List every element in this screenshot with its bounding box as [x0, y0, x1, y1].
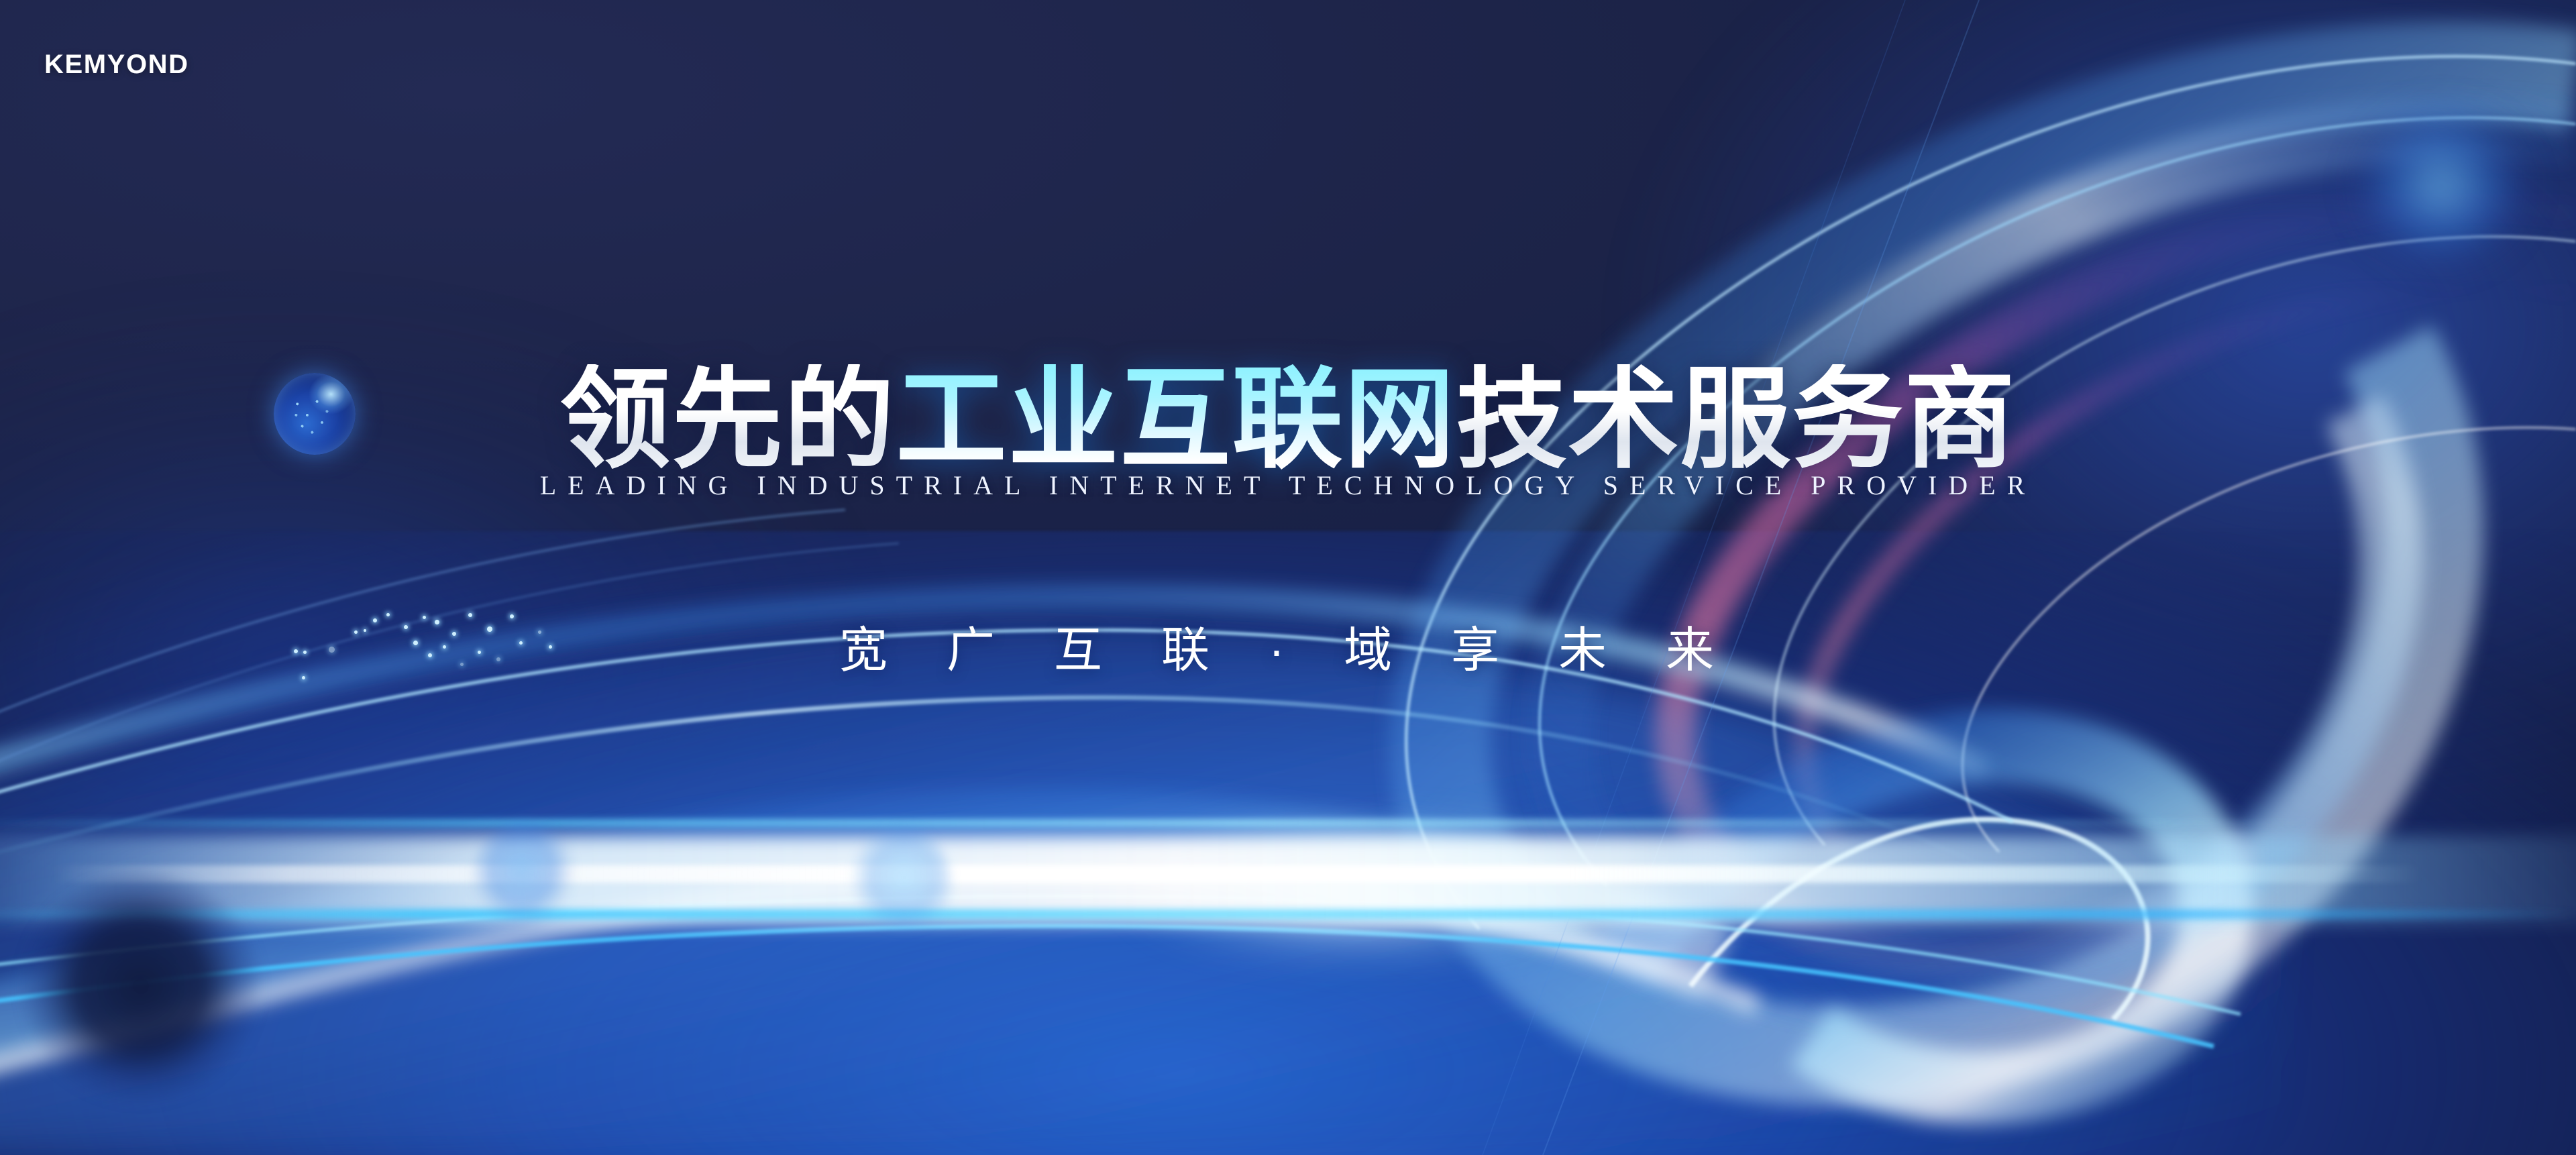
text-content-layer: KEMYOND 领先的工业互联网技术服务商 LEADING INDUSTRIAL…: [0, 0, 2576, 1155]
english-subtitle: LEADING INDUSTRIAL INTERNET TECHNOLOGY S…: [0, 470, 2576, 501]
headline-part-1: 领先的: [560, 364, 896, 475]
slogan-tagline: 宽 广 互 联 · 域 享 未 来: [0, 610, 2576, 681]
headline-part-3: 技术服务商: [1456, 364, 2017, 475]
page-title: 领先的工业互联网技术服务商: [0, 364, 2576, 475]
headline-part-2: 工业互联网: [896, 364, 1456, 475]
brand-logo[interactable]: KEMYOND: [44, 50, 189, 80]
banner-canvas: KEMYOND 领先的工业互联网技术服务商 LEADING INDUSTRIAL…: [0, 0, 2576, 1155]
